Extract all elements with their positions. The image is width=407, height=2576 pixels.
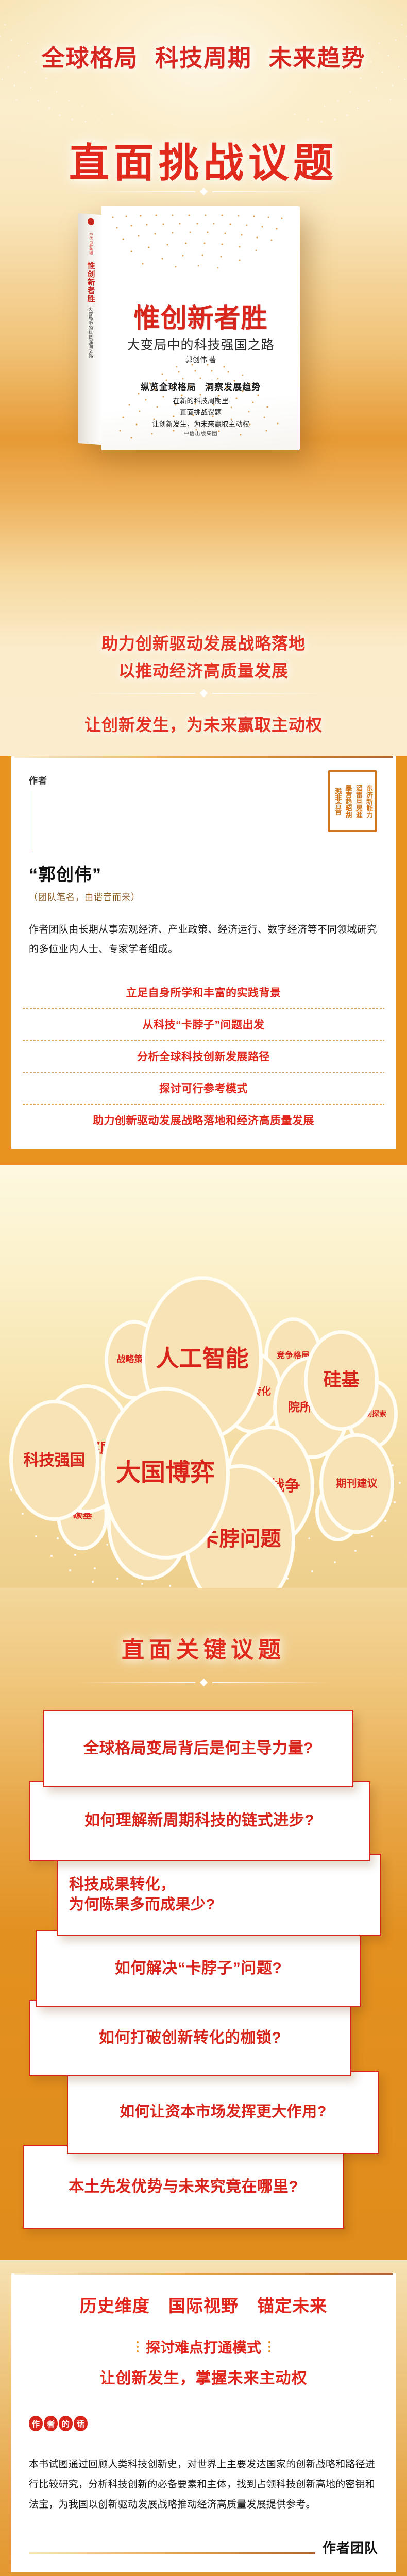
- closing-head-3: 锚定未来: [257, 2296, 327, 2315]
- book-image-wrap: 中信出版集团 惟创新者胜 大变局中的科技强国之路: [0, 202, 407, 460]
- hero-section: 全球格局 科技周期 未来趋势 直面挑战议题 中信出版集团 惟创新者胜 大变局中的…: [0, 0, 407, 756]
- closing-subline: 让创新发生，掌握未来主动权: [29, 2365, 378, 2388]
- claim-item: 分析全球科技创新发展路径: [11, 1041, 396, 1072]
- book-cover-publisher: 中信出版集团: [101, 429, 300, 437]
- word-cloud-bubble: 科技强国: [9, 1400, 99, 1521]
- key-issues-section: 直面关键议题 全球格局变局背后是何主导力量?如何理解新周期科技的链式进步?科技成…: [0, 1588, 407, 2260]
- author-description: 作者团队由长期从事宏观经济、产业政策、经济运行、数字经济等不同领域研究的多位业内…: [29, 920, 378, 959]
- diamond-icon: [199, 1679, 208, 1687]
- hero-message-line3: 让创新发生，为未来赢取主动权: [0, 712, 407, 736]
- seal-col-3: 墨宫趋昭胡: [342, 775, 352, 827]
- authors-words-badge: 作者的话: [29, 2416, 88, 2431]
- question-text: 如何解决“卡脖子”问题?: [48, 1958, 348, 1979]
- seal-stamp-icon: 东济新能力 滔雷旦晃涯 墨宫趋昭胡 溅非合音: [328, 770, 377, 832]
- questions-list: 全球格局变局背后是何主导力量?如何理解新周期科技的链式进步?科技成果转化， 为何…: [0, 1710, 407, 2229]
- word-cloud-label: 硅基: [323, 1370, 359, 1391]
- vertical-rule: [32, 791, 32, 852]
- closing-card: 历史维度 国际视野 锚定未来 探讨难点打通模式 让创新发生，掌握未来主动权 作者…: [11, 2273, 396, 2572]
- question-card: 如何理解新周期科技的链式进步?: [29, 1781, 370, 1861]
- hero-kicker-row: 全球格局 科技周期 未来趋势: [0, 39, 407, 73]
- diamond-icon: [199, 689, 208, 698]
- closing-mid-text: 探讨难点打通模式: [146, 2336, 261, 2357]
- signature-row: 作者团队: [29, 2538, 378, 2557]
- badge-char: 作: [29, 2416, 43, 2431]
- word-cloud-label: 大国博弈: [116, 1460, 215, 1487]
- claim-item: 立足自身所学和丰富的实践背景: [11, 977, 396, 1008]
- seal-col-2: 滔雷旦晃涯: [353, 775, 363, 827]
- issues-divider: [0, 1680, 407, 1685]
- question-card: 如何解决“卡脖子”问题?: [36, 1930, 361, 2007]
- author-section: 作者 东济新能力 滔雷旦晃涯 墨宫趋昭胡 溅非合音 “郭创伟” （团队笔名，由谐…: [0, 756, 407, 1165]
- closing-body-text: 本书试图通过回顾人类科技创新史，对世界上主要发达国家的创新战略和路径进行比较研究…: [29, 2455, 378, 2515]
- closing-mid-row: 探讨难点打通模式: [29, 2336, 378, 2357]
- book-spine-subtitle: 大变局中的科技强国之路: [88, 307, 94, 358]
- question-text: 如何理解新周期科技的链式进步?: [41, 1810, 358, 1832]
- question-text: 如何打破创新转化的枷锁?: [41, 2028, 339, 2049]
- publisher-mark-icon: [88, 218, 94, 225]
- question-card: 本土先发优势与未来究竟在哪里?: [23, 2145, 344, 2229]
- question-card: 如何让资本市场发挥更大作用?: [67, 2071, 379, 2154]
- book-3d: 中信出版集团 惟创新者胜 大变局中的科技强国之路: [78, 206, 300, 450]
- hero-kicker-2: 科技周期: [155, 45, 252, 71]
- closing-head-1: 历史维度: [80, 2296, 150, 2315]
- closing-section: 历史维度 国际视野 锚定未来 探讨难点打通模式 让创新发生，掌握未来主动权 作者…: [0, 2260, 407, 2576]
- author-name: “郭创伟”: [29, 860, 378, 886]
- dot-arc-top-decoration: [101, 209, 300, 276]
- claims-list: 立足自身所学和丰富的实践背景 从科技“卡脖子”问题出发 分析全球科技创新发展路径…: [11, 977, 396, 1136]
- signature-name: 作者团队: [323, 2538, 378, 2557]
- question-text: 如何让资本市场发挥更大作用?: [79, 2102, 367, 2122]
- diamond-icon: [199, 188, 208, 196]
- hero-kicker-3: 未来趋势: [269, 45, 366, 71]
- book-cover-title: 惟创新者胜: [101, 297, 300, 335]
- promo-page: 全球格局 科技周期 未来趋势 直面挑战议题 中信出版集团 惟创新者胜 大变局中的…: [0, 0, 407, 2576]
- question-text: 本土先发优势与未来究竟在哪里?: [35, 2177, 332, 2198]
- badge-char: 话: [74, 2416, 88, 2431]
- claim-item: 助力创新驱动发展战略落地和经济高质量发展: [11, 1105, 396, 1136]
- book-spine-publisher: 中信出版集团: [89, 232, 93, 255]
- question-card: 全球格局变局背后是何主导力量?: [43, 1710, 353, 1787]
- author-label: 作者: [29, 773, 378, 786]
- hero-divider-top: [0, 189, 407, 194]
- dots-ornament-left-icon: [137, 2341, 139, 2352]
- word-cloud-label: 科技强国: [24, 1452, 86, 1469]
- book-front-cover: 惟创新者胜 大变局中的科技强国之路 郭创伟 著 纵览全球格局 洞察发展趋势 在新…: [101, 206, 300, 450]
- author-note: （团队笔名，由谐音而来）: [29, 890, 378, 903]
- question-text: 全球格局变局背后是何主导力量?: [56, 1738, 341, 1759]
- claim-item: 探讨可行参考模式: [11, 1073, 396, 1104]
- badge-char: 者: [44, 2416, 58, 2431]
- dots-ornament-right-icon: [268, 2341, 270, 2352]
- issues-title: 直面关键议题: [0, 1588, 407, 1664]
- hero-message-line2: 以推动经济高质量发展: [0, 658, 407, 682]
- badge-char: 的: [59, 2416, 73, 2431]
- word-cloud-label: 期刊建议: [336, 1478, 378, 1489]
- seal-col-1: 东济新能力: [363, 775, 373, 827]
- question-card: 如何打破创新转化的枷锁?: [29, 2000, 351, 2076]
- book-cover-subtitle: 大变局中的科技强国之路: [101, 335, 300, 353]
- book-spine: 中信出版集团 惟创新者胜 大变局中的科技强国之路: [78, 213, 103, 445]
- closing-headline: 历史维度 国际视野 锚定未来: [29, 2292, 378, 2317]
- book-spine-title: 惟创新者胜: [86, 261, 96, 303]
- hero-message-line1: 助力创新驱动发展战略落地: [0, 631, 407, 654]
- hero-title: 直面挑战议题: [0, 131, 407, 189]
- author-card: 作者 东济新能力 滔雷旦晃涯 墨宫趋昭胡 溅非合音 “郭创伟” （团队笔名，由谐…: [11, 756, 396, 1149]
- question-text: 科技成果转化， 为何陈果多而成果少?: [69, 1875, 369, 1915]
- claim-item: 从科技“卡脖子”问题出发: [11, 1009, 396, 1040]
- word-cloud-stage: 科技奖励战略策源人工智能竞争格局硅基科技强国大国博弈成果转化院所发展机制探索无限…: [0, 1165, 407, 1588]
- word-cloud-bubble: 大国博弈: [101, 1387, 230, 1560]
- seal-col-4: 溅非合音: [332, 775, 342, 827]
- signature-rule: [29, 2552, 315, 2554]
- question-card: 科技成果转化， 为何陈果多而成果少?: [57, 1854, 381, 1936]
- hero-divider-bottom: [0, 690, 407, 696]
- closing-head-2: 国际视野: [168, 2296, 239, 2315]
- hero-kicker-1: 全球格局: [41, 45, 138, 71]
- word-cloud-label: 人工智能: [156, 1346, 248, 1371]
- word-cloud-section: 科技奖励战略策源人工智能竞争格局硅基科技强国大国博弈成果转化院所发展机制探索无限…: [0, 1165, 407, 1588]
- word-cloud-bubble: 硅基: [304, 1330, 379, 1431]
